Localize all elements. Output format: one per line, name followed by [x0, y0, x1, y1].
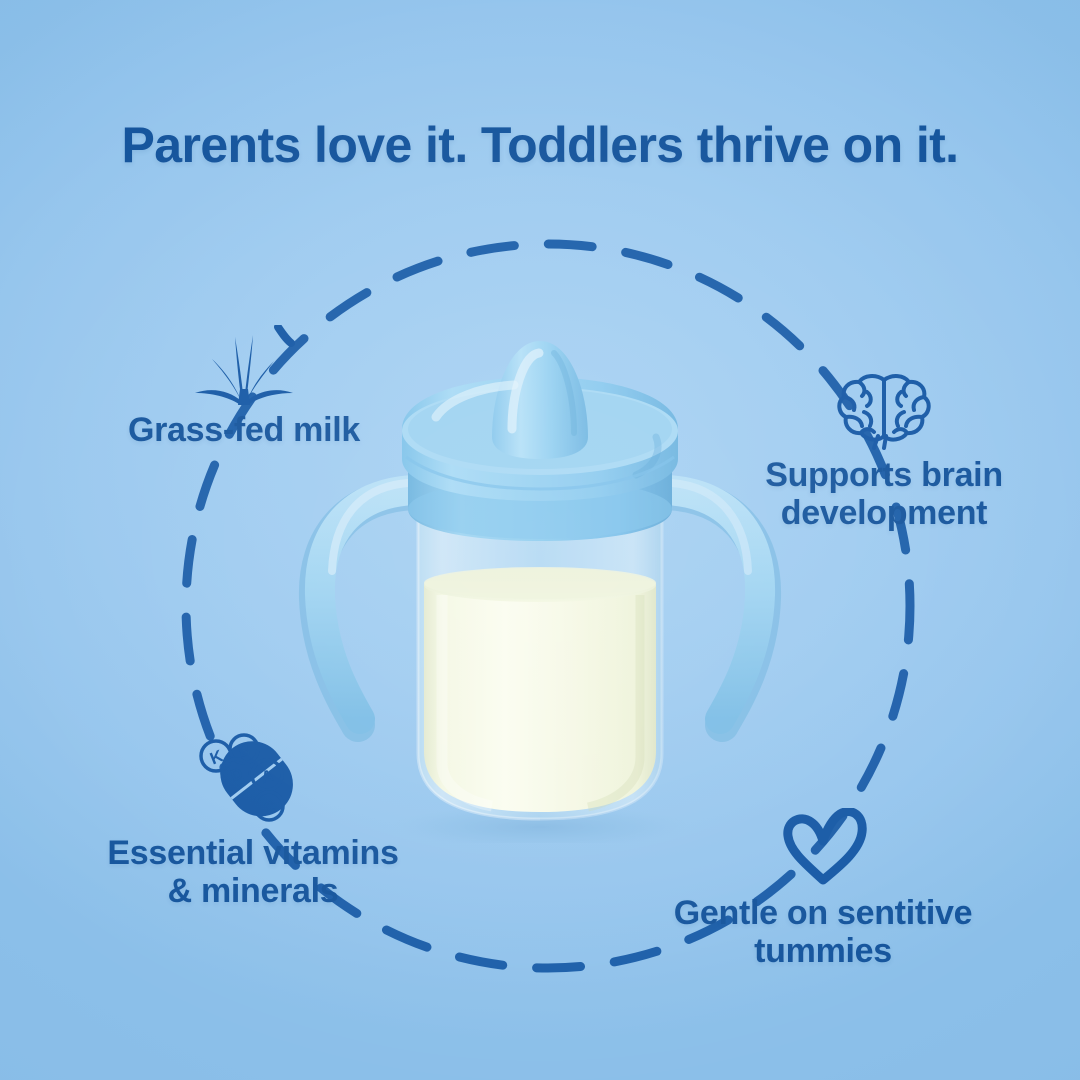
feature-label-line2: & minerals — [168, 872, 339, 910]
brain-icon — [834, 372, 934, 450]
feature-label-line1: Essential vitamins — [107, 834, 398, 872]
feature-label: Grass-fed milk — [84, 411, 404, 449]
poster-canvas: Parents love it. Toddlers thrive on it. — [0, 0, 1080, 1080]
feature-label-line2: development — [781, 494, 987, 532]
grass-tuft-icon — [192, 325, 296, 405]
feature-gentle-on-sensitive-tummies: Gentle on sentitive tummies — [632, 808, 1014, 970]
vitamin-capsule-pills-icon: K B D A C — [194, 728, 312, 828]
feature-essential-vitamins-minerals: K B D A C Essential vitam — [62, 728, 444, 910]
page-title: Parents love it. Toddlers thrive on it. — [0, 118, 1080, 173]
feature-label-line1: Gentle on sentitive — [674, 894, 972, 932]
feature-supports-brain-development: Supports brain development — [724, 372, 1044, 532]
feature-grass-fed-milk: Grass-fed milk — [84, 325, 404, 449]
feature-label-line1: Supports brain — [765, 456, 1003, 494]
heart-outline-icon — [778, 808, 868, 888]
feature-label-line2: tummies — [754, 932, 892, 970]
